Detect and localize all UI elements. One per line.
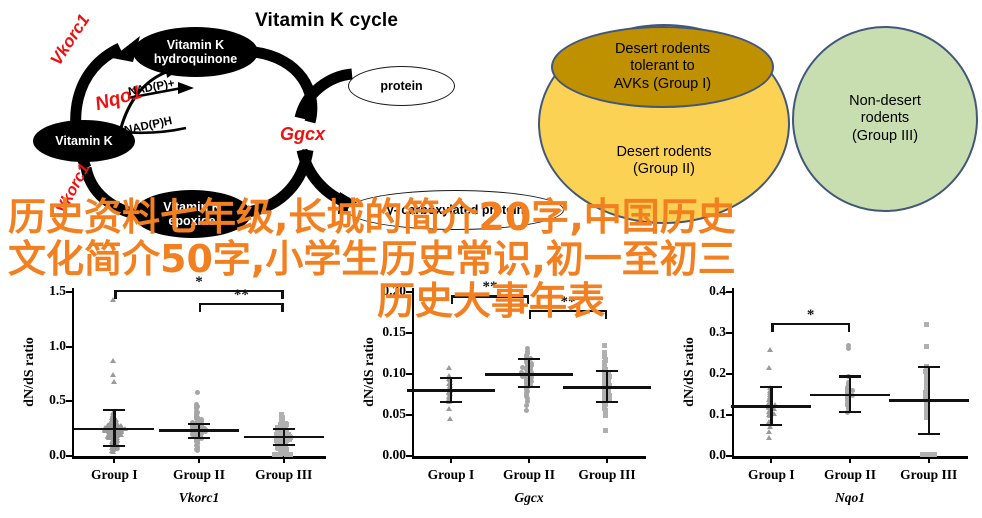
chart-title: Ggcx (412, 490, 646, 506)
significance-label: ** (546, 294, 590, 311)
rodent-groups-venn-panel: Desert rodents (Group II) Desert rodents… (530, 8, 982, 240)
data-point (524, 408, 529, 413)
y-axis (732, 288, 734, 456)
venn-circle-group-iii: Non-desert rodents (Group III) (792, 26, 978, 212)
plot-area: 0.000.050.100.150.20dN/dS ratioGroup IGr… (340, 258, 660, 518)
venn-label-line2: (Group II) (540, 161, 788, 178)
data-point (447, 416, 453, 421)
data-point (272, 452, 277, 457)
x-tick-mark (770, 456, 772, 463)
node-label-line1: Vitamin K (167, 38, 224, 52)
y-axis-label: dN/dS ratio (22, 302, 38, 442)
error-bar-cap (596, 370, 618, 372)
error-bar-cap (103, 445, 125, 447)
mean-line (407, 389, 495, 392)
y-tick-mark (406, 291, 413, 293)
data-point (924, 322, 929, 327)
data-point (932, 452, 937, 457)
significance-label: ** (219, 287, 263, 304)
node-label-line1: Vitamin K (163, 200, 220, 214)
y-axis-label: dN/dS ratio (682, 302, 698, 442)
significance-bracket (529, 310, 607, 320)
x-tick-mark (450, 456, 452, 463)
venn-label-group-iii: Non-desert rodents (Group III) (849, 93, 921, 145)
node-vitamin-k-hydroquinone: Vitamin K hydroquinone (133, 27, 258, 77)
x-tick-mark (849, 456, 851, 463)
mean-line (731, 405, 811, 408)
chart-nqo1: 0.00.10.20.30.4dN/dS ratioGroup IGroup I… (660, 258, 982, 518)
plot-area: 0.00.51.01.5dN/dS ratioGroup IGroup IIGr… (0, 258, 340, 518)
y-axis (72, 288, 74, 456)
y-tick-mark (726, 414, 733, 416)
data-point (920, 452, 925, 457)
data-point (195, 448, 200, 453)
y-tick-mark (726, 373, 733, 375)
mean-line (485, 373, 573, 376)
y-tick-label: 0.0 (24, 447, 66, 463)
significance-label: * (789, 307, 833, 324)
venn-label-line1: Desert rodents (540, 144, 788, 161)
x-tick-mark (528, 456, 530, 463)
node-label: protein (380, 79, 422, 93)
significance-bracket (451, 295, 529, 305)
error-bar-cap (440, 401, 462, 403)
enzyme-label-ggcx: Ggcx (280, 124, 325, 145)
error-bar-cap (760, 386, 782, 388)
data-point (110, 372, 116, 377)
mean-line (810, 394, 890, 397)
error-bar-cap (188, 423, 210, 425)
y-tick-mark (66, 400, 73, 402)
data-point (110, 358, 116, 363)
mean-line (244, 436, 324, 439)
y-tick-label: 0.00 (364, 447, 406, 463)
data-point (603, 413, 608, 418)
y-tick-label: 1.5 (24, 283, 66, 299)
data-point (603, 428, 608, 433)
node-vitamin-k: Vitamin K (33, 120, 135, 162)
node-label-line2: epoxide (168, 214, 215, 228)
x-tick-mark (198, 456, 200, 463)
chart-title: Nqo1 (732, 490, 968, 506)
y-tick-label: 0.4 (684, 283, 726, 299)
significance-label: ** (468, 279, 512, 296)
x-tick-mark (606, 456, 608, 463)
significance-bracket (199, 303, 284, 313)
y-tick-label: 0.0 (684, 447, 726, 463)
chart-ggcx: 0.000.050.100.150.20dN/dS ratioGroup IGr… (340, 258, 660, 518)
data-point (766, 435, 772, 440)
mean-line (563, 386, 651, 389)
data-point (846, 346, 851, 351)
y-tick-mark (66, 455, 73, 457)
mean-line (74, 428, 154, 431)
venn-label-line2: rodents (849, 110, 921, 127)
venn-label-line3: (Group III) (849, 128, 921, 145)
venn-label-line1: Desert rodents (614, 41, 711, 58)
x-tick-label: Group III (229, 467, 339, 483)
x-tick-mark (113, 456, 115, 463)
venn-label-group-ii: Desert rodents (Group II) (540, 144, 788, 179)
error-bar-cap (440, 377, 462, 379)
error-bar-cap (103, 409, 125, 411)
venn-circle-group-i: Desert rodents tolerant to AVKs (Group I… (551, 26, 774, 108)
data-point (288, 452, 293, 457)
data-point (111, 379, 117, 384)
x-tick-mark (928, 456, 930, 463)
y-tick-mark (726, 332, 733, 334)
data-point (602, 343, 607, 348)
error-bar-cap (839, 375, 861, 377)
data-point (766, 365, 772, 370)
data-point (446, 365, 452, 370)
error-bar-cap (918, 433, 940, 435)
y-axis (412, 288, 414, 456)
data-point (766, 429, 772, 434)
node-label-line2: hydroquinone (154, 52, 237, 66)
chart-title: Vkorc1 (72, 490, 326, 506)
error-bar-cap (839, 411, 861, 413)
venn-label-group-i: Desert rodents tolerant to AVKs (Group I… (614, 41, 711, 93)
data-point (110, 449, 116, 454)
error-bar-cap (273, 444, 295, 446)
plot-area: 0.00.10.20.30.4dN/dS ratioGroup IGroup I… (660, 258, 982, 518)
data-point (767, 347, 773, 352)
y-tick-mark (406, 332, 413, 334)
error-bar-cap (518, 386, 540, 388)
error-bar-cap (188, 437, 210, 439)
significance-label: * (177, 274, 221, 291)
data-point (195, 390, 200, 395)
y-tick-mark (406, 414, 413, 416)
y-tick-mark (726, 455, 733, 457)
y-tick-mark (726, 291, 733, 293)
venn-label-line3: AVKs (Group I) (614, 76, 711, 93)
data-point (924, 344, 929, 349)
y-tick-label: 0.20 (364, 283, 406, 299)
error-bar-cap (596, 401, 618, 403)
y-tick-mark (406, 455, 413, 457)
venn-label-line2: tolerant to (614, 58, 711, 75)
figure-canvas: Vitamin K cycle (0, 0, 982, 518)
error-bar-cap (518, 358, 540, 360)
mean-line (889, 399, 969, 402)
y-tick-mark (406, 373, 413, 375)
vitamin-k-cycle-panel: Vitamin K cycle (0, 0, 560, 250)
node-label: Vitamin K (55, 134, 112, 148)
node-vitamin-k-epoxide: Vitamin K epoxide (133, 190, 251, 238)
x-tick-label: Group III (874, 467, 982, 483)
node-label: γ- carboxylated protein (387, 203, 525, 217)
chart-vkorc1: 0.00.51.01.5dN/dS ratioGroup IGroup IIGr… (0, 258, 340, 518)
node-protein: protein (348, 66, 455, 106)
x-tick-label: Group III (552, 467, 662, 483)
y-tick-mark (66, 291, 73, 293)
error-bar-cap (918, 366, 940, 368)
y-tick-mark (66, 346, 73, 348)
y-axis-label: dN/dS ratio (362, 302, 378, 442)
error-bar-cap (760, 424, 782, 426)
significance-bracket (771, 323, 850, 333)
error-bar-cap (273, 428, 295, 430)
mean-line (159, 429, 239, 432)
venn-label-line1: Non-desert (849, 93, 921, 110)
data-point (446, 406, 452, 411)
